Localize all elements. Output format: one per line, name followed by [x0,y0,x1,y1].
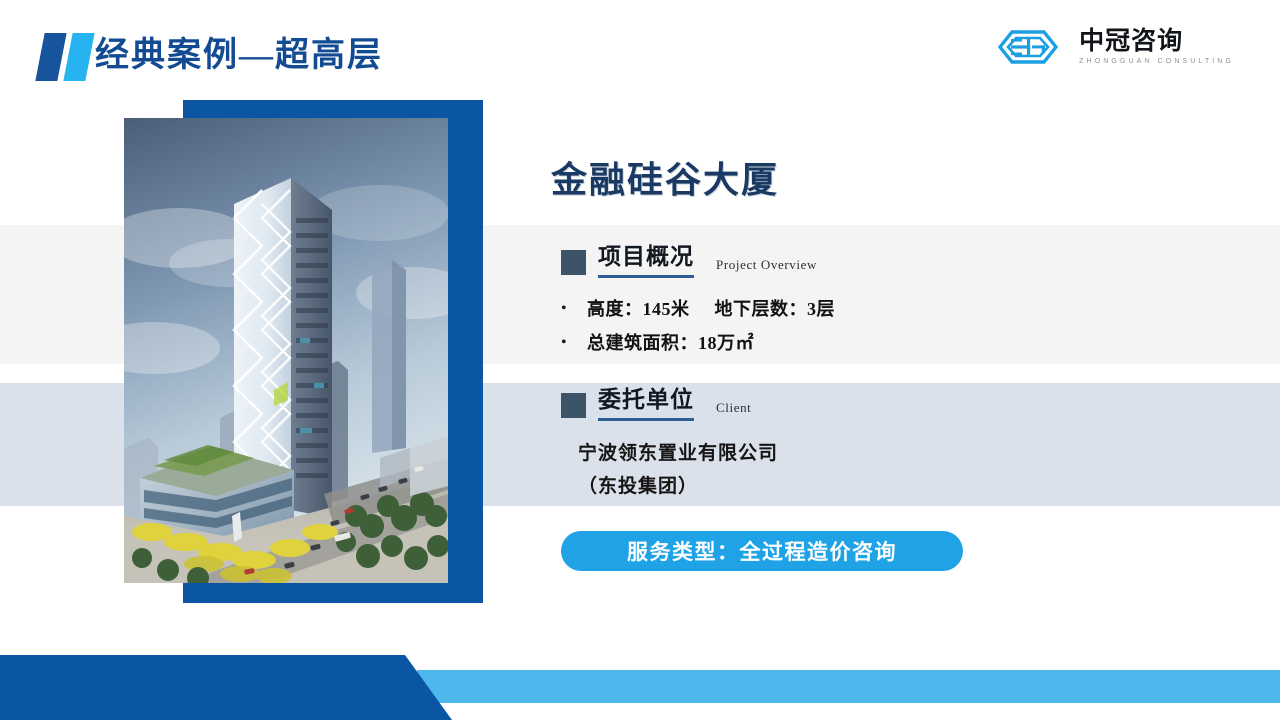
bullet-text: 总建筑面积：18万㎡ [587,326,754,360]
list-item: • 高度：145米 地下层数：3层 [561,292,835,326]
section-title-client-en: Client [716,400,751,416]
page-title: 经典案例—超高层 [95,32,383,80]
section-marker-square-icon [561,250,586,275]
overview-bullet-list: • 高度：145米 地下层数：3层 • 总建筑面积：18万㎡ [561,292,835,360]
list-item: • 总建筑面积：18万㎡ [561,326,835,360]
brand-logo: 中冠咨询 ZHONGGUAN CONSULTING [986,24,1234,70]
bullet-marker-icon: • [561,292,587,326]
footer-decoration [0,640,1280,720]
logo-company-name-en: ZHONGGUAN CONSULTING [1079,56,1234,67]
client-name-block: 宁波领东置业有限公司 （东投集团） [578,437,778,503]
title-accent-bars-icon [38,33,94,81]
logo-company-name: 中冠咨询 [1079,28,1234,54]
bullet-marker-icon: • [561,326,587,360]
project-photo [124,118,448,583]
section-header-client: 委托单位 Client [561,386,751,421]
client-name-line: （东投集团） [578,470,778,503]
footer-dark-shape [0,655,452,720]
client-name-line: 宁波领东置业有限公司 [578,437,778,470]
section-marker-square-icon [561,393,586,418]
slide-canvas: 经典案例—超高层 中冠咨询 ZHONGGUAN CONSULTING [0,0,1280,720]
zg-diamond-logo-icon [986,27,1070,67]
project-title: 金融硅谷大厦 [551,155,779,205]
section-header-overview: 项目概况 Project Overview [561,243,817,278]
section-title-overview-cn: 项目概况 [598,243,694,278]
footer-light-bar [417,670,1280,703]
bullet-text: 高度：145米 地下层数：3层 [587,292,835,326]
service-type-badge: 服务类型：全过程造价咨询 [561,531,963,571]
section-title-client-cn: 委托单位 [598,386,694,421]
section-title-overview-en: Project Overview [716,257,817,273]
